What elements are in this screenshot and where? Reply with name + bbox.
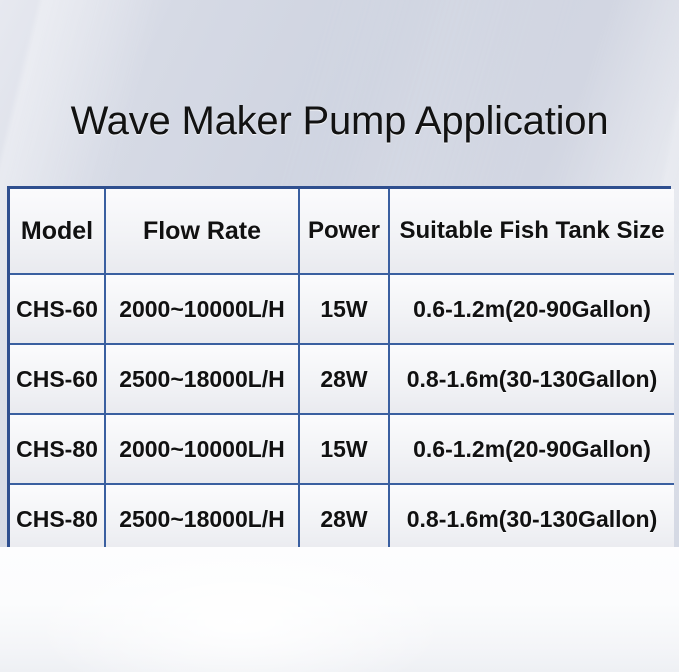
column-header-tank-size: Suitable Fish Tank Size [389,189,674,274]
cell-flow-rate: 2000~10000L/H [105,274,299,344]
table-row: CHS-80 2500~18000L/H 28W 0.8-1.6m(30-130… [10,484,674,553]
cell-model: CHS-60 [10,344,105,414]
page-title: Wave Maker Pump Application [0,99,679,144]
cell-tank-size: 0.6-1.2m(20-90Gallon) [389,274,674,344]
cell-flow-rate: 2500~18000L/H [105,484,299,553]
cell-model: CHS-80 [10,414,105,484]
table-row: CHS-60 2500~18000L/H 28W 0.8-1.6m(30-130… [10,344,674,414]
column-header-model: Model [10,189,105,274]
table-row: CHS-80 2000~10000L/H 15W 0.6-1.2m(20-90G… [10,414,674,484]
cell-power: 28W [299,484,389,553]
spec-table: Model Flow Rate Power Suitable Fish Tank… [10,189,674,553]
cell-tank-size: 0.6-1.2m(20-90Gallon) [389,414,674,484]
table-header-row: Model Flow Rate Power Suitable Fish Tank… [10,189,674,274]
column-header-flow-rate: Flow Rate [105,189,299,274]
cell-tank-size: 0.8-1.6m(30-130Gallon) [389,344,674,414]
bottom-glow [30,547,450,672]
cell-model: CHS-60 [10,274,105,344]
cell-tank-size: 0.8-1.6m(30-130Gallon) [389,484,674,553]
spec-table-container: Model Flow Rate Power Suitable Fish Tank… [7,186,671,547]
cell-flow-rate: 2500~18000L/H [105,344,299,414]
cell-power: 15W [299,414,389,484]
table-row: CHS-60 2000~10000L/H 15W 0.6-1.2m(20-90G… [10,274,674,344]
cell-model: CHS-80 [10,484,105,553]
cell-power: 15W [299,274,389,344]
cell-flow-rate: 2000~10000L/H [105,414,299,484]
slide-canvas: Wave Maker Pump Application Model Flow R… [0,0,679,672]
column-header-power: Power [299,189,389,274]
bottom-decoration-panel [0,547,679,672]
cell-power: 28W [299,344,389,414]
